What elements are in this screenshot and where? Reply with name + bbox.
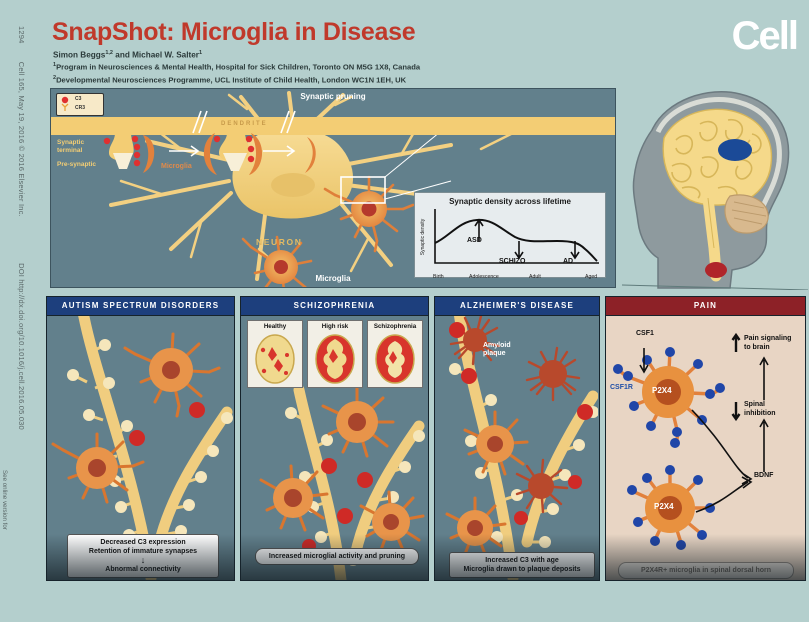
- alzheimers-callout-line-1: Increased C3 with age: [455, 556, 589, 565]
- brain-state-high-risk-label: High risk: [308, 323, 362, 330]
- alzheimers-callout: Increased C3 with age Microglia drawn to…: [449, 552, 595, 578]
- chart-xtick-adult: Adult: [529, 274, 541, 280]
- margin-page-number: 1294: [17, 26, 26, 44]
- affiliation-1: 1Program in Neurosciences & Mental Healt…: [53, 60, 420, 73]
- chart-xtick-adolescence: Adolescence: [469, 274, 499, 280]
- csf1-label: CSF1: [636, 330, 654, 337]
- panel-autism-spectrum-disorders[interactable]: AUTISM SPECTRUM DISORDERS: [46, 296, 235, 581]
- brain-state-schizophrenia-label: Schizophrenia: [368, 323, 422, 330]
- affiliation-2: 2Developmental Neurosciences Programme, …: [53, 73, 420, 86]
- amyloid-plaque: [451, 316, 579, 512]
- pain-signaling-label: Pain signalingto brain: [744, 334, 791, 352]
- brain-section-high-risk: [308, 333, 362, 385]
- spinal-cord-marker: [705, 262, 727, 278]
- pain-signaling-arrow: [760, 358, 768, 400]
- author-list: Simon Beggs1,2 and Michael W. Salter1: [53, 50, 202, 60]
- affiliations: 1Program in Neurosciences & Mental Healt…: [53, 60, 420, 86]
- bdnf-label: BDNF: [754, 472, 773, 479]
- cortex-marker: [718, 139, 752, 161]
- alzheimers-svg: [435, 316, 598, 580]
- down-arrow-icon: [733, 402, 740, 419]
- microglia-cell: [447, 498, 505, 554]
- brain-section-healthy: [248, 333, 302, 385]
- page-title: SnapShot: Microglia in Disease: [52, 18, 415, 47]
- panel-schizophrenia-body: Healthy High risk: [241, 316, 428, 580]
- cell-journal-logo: Cell: [732, 16, 797, 56]
- pain-callout: P2X4R+ microglia in spinal dorsal horn: [618, 562, 794, 579]
- panel-autism-body: Decreased C3 expression Retention of imm…: [47, 316, 234, 580]
- pain-callout-line-1: P2X4R+ microglia in spinal dorsal horn: [624, 566, 788, 575]
- spinal-inhibition-label: Spinalinhibition: [744, 400, 776, 418]
- synaptic-density-chart: Synaptic density across lifetime Synapti…: [414, 192, 606, 278]
- c3-deposits: [129, 402, 205, 446]
- alzheimers-callout-line-2: Microglia drawn to plaque deposits: [455, 565, 589, 574]
- brain-state-healthy-label: Healthy: [248, 323, 302, 330]
- disease-panels: AUTISM SPECTRUM DISORDERS: [46, 296, 806, 581]
- autism-callout: Decreased C3 expression Retention of imm…: [67, 534, 219, 578]
- chart-annotation-asd: ASD: [467, 237, 482, 244]
- chart-xtick-birth: Birth: [433, 274, 444, 280]
- brain-state-row: Healthy High risk: [247, 320, 423, 388]
- amyloid-plaque-label: Amyloidplaque: [483, 342, 511, 358]
- chart-annotation-schizo: SCHIZO: [499, 258, 525, 265]
- panel-pain-header: PAIN: [606, 297, 805, 316]
- panel-pain[interactable]: PAIN: [605, 296, 806, 581]
- panel-schizophrenia-header: SCHIZOPHRENIA: [241, 297, 428, 316]
- brain-state-high-risk: High risk: [307, 320, 363, 388]
- spinal-inhibition-arrow: [760, 420, 768, 472]
- panel-alzheimers-header: ALZHEIMER'S DISEASE: [435, 297, 599, 316]
- panel-alzheimers-disease[interactable]: ALZHEIMER'S DISEASE: [434, 296, 600, 581]
- csf1r-label: CSF1R: [610, 384, 633, 391]
- brain-section-schizophrenia: [368, 333, 422, 385]
- neuron-label: NEURON: [256, 237, 302, 247]
- head-svg: [622, 82, 808, 290]
- schizophrenia-callout-line-1: Increased microglial activity and prunin…: [261, 552, 413, 561]
- up-arrow-icon: [733, 335, 740, 352]
- poster-page: 1294 Cell 165, May 19, 2016 © 2016 Elsev…: [0, 0, 809, 622]
- autism-callout-arrow: ↓: [73, 556, 213, 565]
- p2x4-top-label: P2X4: [652, 386, 672, 395]
- bottom-band: [0, 581, 809, 622]
- chart-annotation-ad: AD: [563, 258, 573, 265]
- panel-pain-body: CSF1 CSF1R P2X4 P2X4 Pain signalingto br…: [606, 316, 805, 580]
- brain-state-schizophrenia: Schizophrenia: [367, 320, 423, 388]
- bdnf-arrows: [692, 410, 751, 512]
- pain-svg: [606, 316, 804, 580]
- head-brain-illustration: [622, 82, 808, 290]
- schizophrenia-callout: Increased microglial activity and prunin…: [255, 548, 419, 565]
- autism-callout-line-1: Decreased C3 expression: [73, 538, 213, 547]
- microglia-cell: [125, 334, 219, 416]
- brain-state-healthy: Healthy: [247, 320, 303, 388]
- microglia-micrograph: Microglia: [51, 287, 196, 288]
- chart-xtick-aged: Aged: [585, 274, 597, 280]
- p2x4-bottom-label: P2X4: [654, 502, 674, 511]
- panel-autism-header: AUTISM SPECTRUM DISORDERS: [47, 297, 234, 316]
- microglia-cell: [323, 388, 393, 456]
- microglia-cell-p2x4-top: [613, 347, 725, 448]
- margin-journal-citation: Cell 165, May 19, 2016 © 2016 Elsevier I…: [17, 62, 26, 217]
- autism-callout-line-3: Abnormal connectivity: [73, 565, 213, 574]
- panel-schizophrenia[interactable]: SCHIZOPHRENIA: [240, 296, 429, 581]
- margin-doi: DOI http://dx.doi.org/10.1016/j.cell.201…: [17, 263, 26, 430]
- panel-alzheimers-body: Amyloidplaque Increased C3 with age Micr…: [435, 316, 599, 580]
